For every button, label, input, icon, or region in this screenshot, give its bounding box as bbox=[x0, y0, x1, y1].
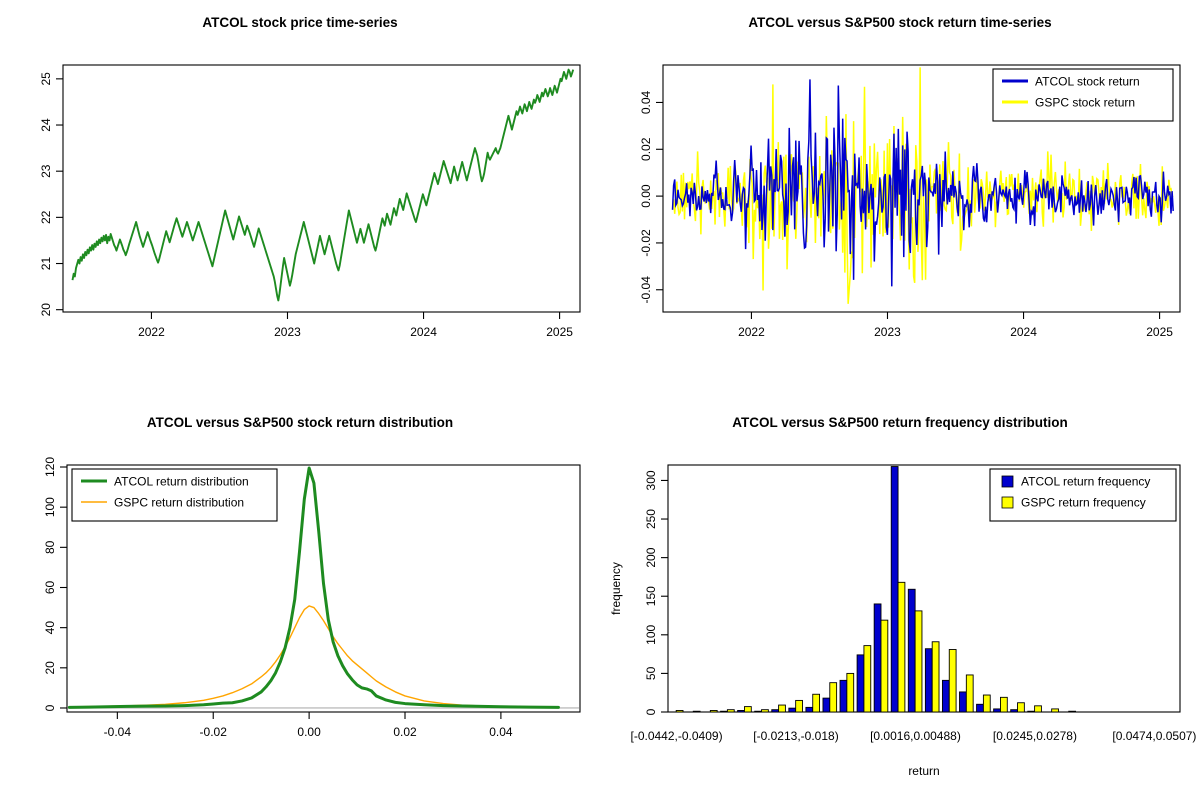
axis-tick-label: 0.02 bbox=[393, 725, 417, 739]
axis-tick-label: 100 bbox=[43, 497, 57, 517]
axis-tick-label: 2022 bbox=[138, 325, 165, 339]
legend-label: GSPC return distribution bbox=[114, 496, 244, 510]
legend-return-frequency[interactable]: ATCOL return frequencyGSPC return freque… bbox=[990, 469, 1176, 521]
panel-return-timeseries: ATCOL versus S&P500 stock return time-se… bbox=[600, 0, 1200, 400]
histogram-bar bbox=[813, 694, 820, 712]
panel-title-return-timeseries: ATCOL versus S&P500 stock return time-se… bbox=[748, 15, 1051, 30]
histogram-bar bbox=[881, 620, 888, 712]
axis-tick-label: -0.04 bbox=[639, 276, 653, 304]
axis-tick-label: 2023 bbox=[874, 325, 901, 339]
histogram-bar bbox=[1035, 706, 1042, 712]
histogram-bar bbox=[727, 710, 734, 712]
axis-tick-label: 120 bbox=[43, 457, 57, 477]
axis-tick-label: 0.00 bbox=[297, 725, 321, 739]
histogram-bin-label: [0.0016,0.00488) bbox=[870, 729, 961, 743]
axis-tick-label: 250 bbox=[644, 509, 658, 529]
axis-tick-label: 2024 bbox=[410, 325, 437, 339]
axis-tick-label: 20 bbox=[39, 303, 53, 317]
legend-label: ATCOL return frequency bbox=[1021, 475, 1150, 489]
histogram-bar bbox=[693, 711, 700, 712]
legend-return-timeseries[interactable]: ATCOL stock returnGSPC stock return bbox=[993, 69, 1173, 121]
histogram-bar bbox=[806, 707, 813, 712]
histogram-bar bbox=[898, 582, 905, 712]
panel-title-return-frequency: ATCOL versus S&P500 return frequency dis… bbox=[732, 415, 1068, 430]
axis-tick-label: 300 bbox=[644, 470, 658, 490]
histogram-bar bbox=[915, 611, 922, 712]
histogram-bar bbox=[977, 704, 984, 712]
legend-label: ATCOL return distribution bbox=[114, 475, 249, 489]
axis-tick-label: 2023 bbox=[274, 325, 301, 339]
histogram-bar bbox=[744, 707, 751, 712]
histogram-bar bbox=[864, 646, 871, 712]
histogram-bar bbox=[796, 700, 803, 712]
axis-tick-label: 150 bbox=[644, 586, 658, 606]
axis-tick-label: 24 bbox=[39, 118, 53, 132]
histogram-bar bbox=[949, 649, 956, 712]
axis-tick-label: 23 bbox=[39, 164, 53, 178]
axis-tick-label: 0.00 bbox=[639, 184, 653, 208]
histogram-bar bbox=[1000, 697, 1007, 712]
axis-tick-label: -0.04 bbox=[104, 725, 132, 739]
legend-return-distribution[interactable]: ATCOL return distributionGSPC return dis… bbox=[72, 469, 277, 521]
histogram-bin-label: [-0.0213,-0.018) bbox=[753, 729, 838, 743]
histogram-bar bbox=[1011, 710, 1018, 712]
panel-return-distribution: ATCOL versus S&P500 stock return distrib… bbox=[0, 400, 600, 800]
axis-tick-label: 21 bbox=[39, 257, 53, 271]
axis-tick-label: 50 bbox=[644, 666, 658, 680]
axis-tick-label: -0.02 bbox=[639, 229, 653, 257]
y-axis-label: frequency bbox=[609, 562, 623, 615]
axis-tick-label: -0.02 bbox=[200, 725, 228, 739]
axis-tick-label: 0.04 bbox=[639, 90, 653, 114]
histogram-bar bbox=[755, 711, 762, 712]
legend-swatch bbox=[1002, 476, 1013, 487]
histogram-bar bbox=[857, 655, 864, 712]
axis-tick-label: 20 bbox=[43, 661, 57, 675]
legend-swatch bbox=[1002, 497, 1013, 508]
panel-return-timeseries-svg: ATCOL versus S&P500 stock return time-se… bbox=[600, 0, 1200, 400]
histogram-bar bbox=[710, 710, 717, 712]
axis-tick-label: 0.04 bbox=[489, 725, 513, 739]
histogram-bar bbox=[942, 680, 949, 712]
panel-return-distribution-svg: ATCOL versus S&P500 stock return distrib… bbox=[0, 400, 600, 800]
axis-tick-label: 2025 bbox=[1146, 325, 1173, 339]
axis-tick-label: 60 bbox=[43, 581, 57, 595]
histogram-bar bbox=[1069, 711, 1076, 712]
histogram-bin-label: [0.0245,0.0278) bbox=[993, 729, 1077, 743]
axis-tick-label: 2025 bbox=[546, 325, 573, 339]
histogram-bar bbox=[925, 649, 932, 712]
histogram-bar bbox=[932, 642, 939, 712]
series-atcol-price bbox=[73, 70, 574, 301]
histogram-bar bbox=[1052, 709, 1059, 712]
panel-atcol-stock-price-svg: ATCOL stock price time-series 2022202320… bbox=[0, 0, 600, 400]
axis-tick-label: 200 bbox=[644, 547, 658, 567]
histogram-bin-label: [0.0474,0.0507) bbox=[1112, 729, 1196, 743]
legend-label: GSPC return frequency bbox=[1021, 496, 1146, 510]
histogram-bar bbox=[1018, 703, 1025, 712]
panel-atcol-stock-price: ATCOL stock price time-series 2022202320… bbox=[0, 0, 600, 400]
histogram-bar bbox=[966, 675, 973, 712]
histogram-bar bbox=[1028, 711, 1035, 712]
panel-return-frequency-svg: ATCOL versus S&P500 return frequency dis… bbox=[600, 400, 1200, 800]
axis-tick-label: 0 bbox=[644, 708, 658, 715]
axis-tick-label: 2022 bbox=[738, 325, 765, 339]
histogram-bar bbox=[762, 710, 769, 712]
figure-grid: ATCOL stock price time-series 2022202320… bbox=[0, 0, 1200, 800]
density-curve bbox=[69, 606, 558, 707]
histogram-bin-label: [-0.0442,-0.0409) bbox=[631, 729, 723, 743]
histogram-bar bbox=[960, 692, 967, 712]
histogram-bar bbox=[983, 695, 990, 712]
histogram-bar bbox=[847, 673, 854, 712]
axis-tick-label: 40 bbox=[43, 621, 57, 635]
histogram-bar bbox=[738, 710, 745, 712]
axes-top-left: 2022202320242025202122232425 bbox=[39, 65, 580, 339]
axis-tick-label: 2024 bbox=[1010, 325, 1037, 339]
histogram-bar bbox=[891, 467, 898, 712]
price-line bbox=[73, 70, 574, 301]
histogram-bar bbox=[789, 708, 796, 712]
histogram-bar bbox=[779, 705, 786, 712]
histogram-bar bbox=[994, 709, 1001, 712]
histogram-bar bbox=[874, 604, 881, 712]
histogram-bar bbox=[772, 710, 779, 712]
axis-tick-label: 25 bbox=[39, 72, 53, 86]
histogram-bar bbox=[908, 589, 915, 712]
histogram-bar bbox=[823, 698, 830, 712]
axis-tick-label: 0.02 bbox=[639, 137, 653, 161]
histogram-bar bbox=[830, 683, 837, 712]
axis-tick-label: 22 bbox=[39, 210, 53, 224]
axis-tick-label: 100 bbox=[644, 624, 658, 644]
histogram-bar bbox=[676, 710, 683, 712]
axis-tick-label: 0 bbox=[43, 704, 57, 711]
histogram-bar bbox=[840, 680, 847, 712]
legend-label: ATCOL stock return bbox=[1035, 75, 1140, 89]
x-axis-label: return bbox=[908, 764, 939, 778]
panel-title-return-distribution: ATCOL versus S&P500 stock return distrib… bbox=[147, 415, 453, 430]
panel-return-frequency: ATCOL versus S&P500 return frequency dis… bbox=[600, 400, 1200, 800]
axis-tick-label: 80 bbox=[43, 540, 57, 554]
legend-label: GSPC stock return bbox=[1035, 96, 1135, 110]
histogram-bar bbox=[721, 711, 728, 712]
page-title: ATCOL stock price time-series bbox=[202, 15, 397, 30]
